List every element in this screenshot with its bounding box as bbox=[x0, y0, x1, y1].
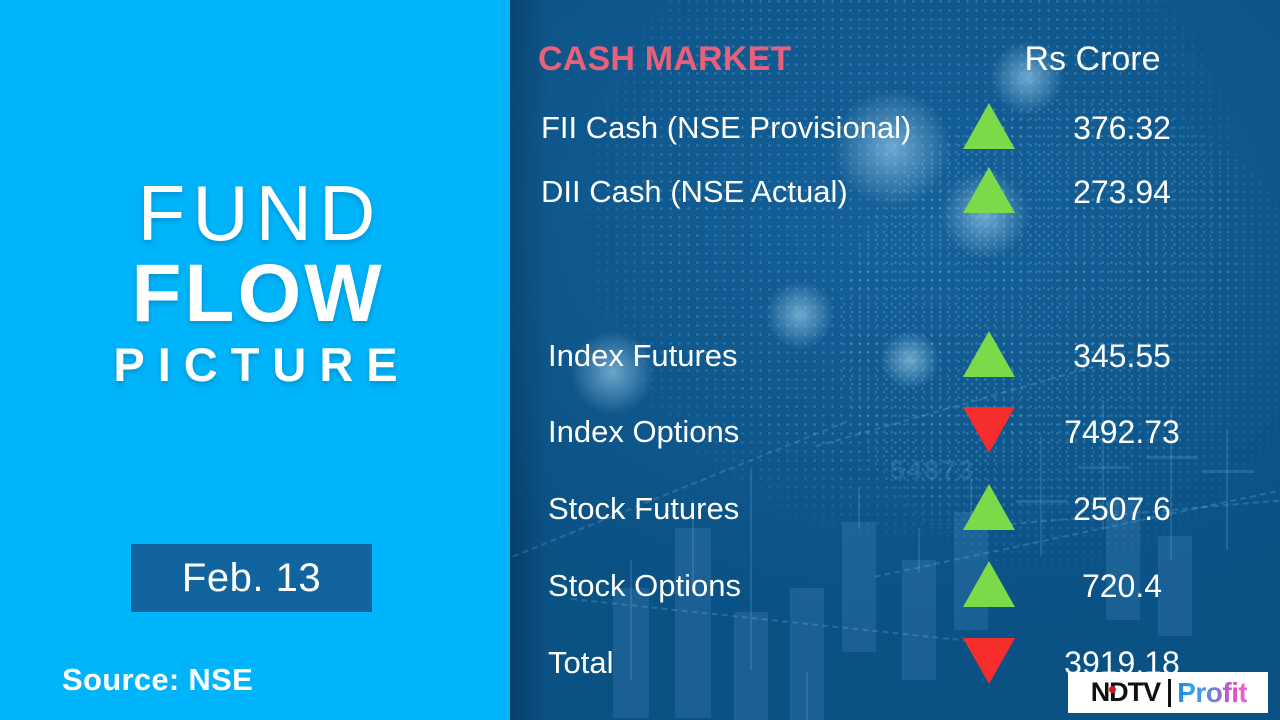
row-value: 720.4 bbox=[1022, 558, 1222, 614]
brand-title: FUND FLOW PICTURE bbox=[0, 176, 510, 395]
fund-flow-graphic: FUND FLOW PICTURE Feb. 13 Source: NSE bbox=[0, 0, 1280, 720]
logo-ndtv-text: NDTV bbox=[1089, 677, 1163, 708]
row-value: 345.55 bbox=[1022, 328, 1222, 384]
triangle-up-icon bbox=[954, 167, 1024, 217]
table-row: DII Cash (NSE Actual) 273.94 bbox=[510, 164, 1280, 220]
triangle-down-icon bbox=[954, 407, 1024, 457]
section-header-unit: Rs Crore bbox=[510, 40, 1280, 79]
table-row: Stock Futures 2507.6 bbox=[510, 481, 1280, 537]
table-row: Stock Options 720.4 bbox=[510, 558, 1280, 614]
data-panel: 54873 CASH MARKET Rs Crore FII Cash (NSE… bbox=[510, 0, 1280, 720]
triangle-up-icon bbox=[954, 484, 1024, 534]
brand-line-fund: FUND bbox=[10, 176, 510, 251]
triangle-up-icon bbox=[954, 561, 1024, 611]
row-label: DII Cash (NSE Actual) bbox=[541, 164, 848, 220]
brand-line-flow: FLOW bbox=[6, 251, 510, 336]
row-label: Stock Options bbox=[548, 558, 741, 614]
table-row: Index Futures 345.55 bbox=[510, 328, 1280, 384]
row-label: Stock Futures bbox=[548, 481, 739, 537]
triangle-up-icon bbox=[954, 331, 1024, 381]
logo-profit-text: Profit bbox=[1177, 677, 1247, 709]
fund-flow-table: CASH MARKET Rs Crore FII Cash (NSE Provi… bbox=[510, 0, 1280, 720]
logo-ndtv-label: NDTV bbox=[1091, 677, 1161, 707]
row-value: 7492.73 bbox=[1022, 404, 1222, 460]
row-label: FII Cash (NSE Provisional) bbox=[541, 100, 911, 156]
table-row: FII Cash (NSE Provisional) 376.32 bbox=[510, 100, 1280, 156]
triangle-up-icon bbox=[954, 103, 1024, 153]
row-label: Index Futures bbox=[548, 328, 738, 384]
table-row: Index Options 7492.73 bbox=[510, 404, 1280, 460]
date-badge: Feb. 13 bbox=[131, 544, 372, 612]
source-label: Source: NSE bbox=[62, 662, 253, 698]
row-label: Index Options bbox=[548, 404, 739, 460]
brand-line-picture: PICTURE bbox=[14, 336, 510, 395]
row-value: 376.32 bbox=[1022, 100, 1222, 156]
logo-divider bbox=[1168, 679, 1171, 707]
row-value: 273.94 bbox=[1022, 164, 1222, 220]
ndtv-profit-logo: NDTV Profit bbox=[1068, 672, 1268, 713]
triangle-down-icon bbox=[954, 638, 1024, 688]
row-label: Total bbox=[548, 635, 613, 691]
logo-red-dot-icon bbox=[1109, 686, 1116, 693]
row-value: 2507.6 bbox=[1022, 481, 1222, 537]
left-branding-panel: FUND FLOW PICTURE Feb. 13 Source: NSE bbox=[0, 0, 510, 720]
